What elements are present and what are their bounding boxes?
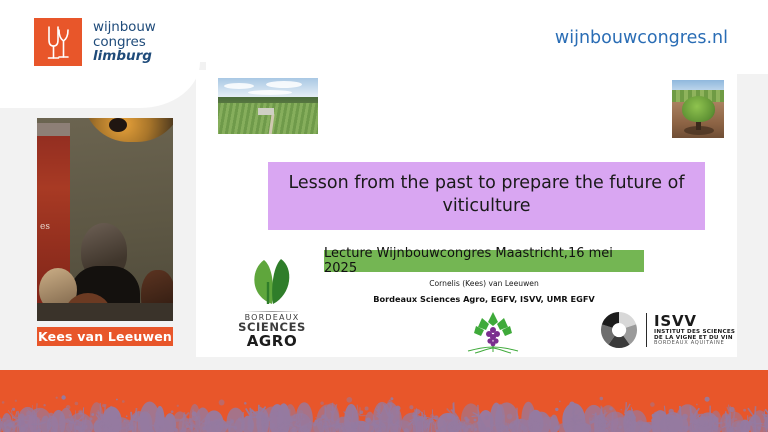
isvv-logo: ISVV INSTITUT DES SCIENCES DE LA VIGNE E…: [600, 310, 737, 350]
lecture-text: Lecture Wijnbouwcongres Maastricht,16 me…: [324, 246, 644, 276]
isvv-name: ISVV: [654, 313, 735, 329]
slide-title-box: Lesson from the past to prepare the futu…: [268, 162, 705, 230]
vineyard-landscape-photo: [218, 78, 318, 134]
photo-cloud: [266, 81, 302, 88]
site-url[interactable]: wijnbouwcongres.nl: [555, 28, 728, 48]
footer-band: [0, 370, 768, 432]
segmented-ring-icon: [600, 311, 638, 349]
lecture-banner: Lecture Wijnbouwcongres Maastricht,16 me…: [324, 250, 644, 272]
header-curve: [0, 62, 200, 108]
photo-vine-canopy: [682, 96, 715, 122]
photo-cloud: [224, 83, 254, 89]
photo-panel-top: [37, 123, 70, 136]
logo-line-1: wijnbouw: [93, 20, 156, 35]
grapevine-roots-icon: [462, 310, 524, 354]
speaker-photo: es: [37, 118, 173, 321]
photo-foreground: [37, 303, 173, 321]
author-name: Cornelis (Kees) van Leeuwen: [324, 279, 644, 288]
egfv-logo: [462, 310, 524, 354]
logo-divider: [244, 311, 300, 312]
slide-title: Lesson from the past to prepare the futu…: [276, 172, 697, 218]
logo-line-3: limburg: [93, 49, 156, 64]
bush-vine-photo: [672, 80, 724, 138]
congress-logo[interactable]: wijnbouw congres limburg: [34, 18, 156, 66]
logo-line-2: congres: [93, 35, 156, 50]
bsa-logo-text: BORDEAUX SCIENCES AGRO: [224, 314, 320, 349]
photo-farmhouse: [258, 108, 274, 115]
isvv-line-3: BORDEAUX AQUITAINE: [654, 341, 735, 347]
photo-cloud: [248, 90, 292, 95]
author-affiliation: Bordeaux Sciences Agro, EGFV, ISVV, UMR …: [304, 294, 664, 304]
bordeaux-sciences-agro-logo: BORDEAUX SCIENCES AGRO: [224, 256, 320, 352]
wine-glasses-icon: [34, 18, 82, 66]
bsa-line-3: AGRO: [224, 334, 320, 349]
congress-logo-text: wijnbouw congres limburg: [93, 20, 156, 64]
isvv-logo-text: ISVV INSTITUT DES SCIENCES DE LA VIGNE E…: [646, 313, 735, 347]
presentation-slide: Lesson from the past to prepare the futu…: [196, 70, 737, 357]
photo-partial-text: es: [40, 222, 50, 232]
slide-page: wijnbouw congres limburg wijnbouwcongres…: [0, 0, 768, 432]
speaker-name-badge: Kees van Leeuwen: [37, 327, 173, 346]
leaf-icon: [224, 256, 320, 312]
vine-silhouette-pattern: [0, 384, 768, 432]
